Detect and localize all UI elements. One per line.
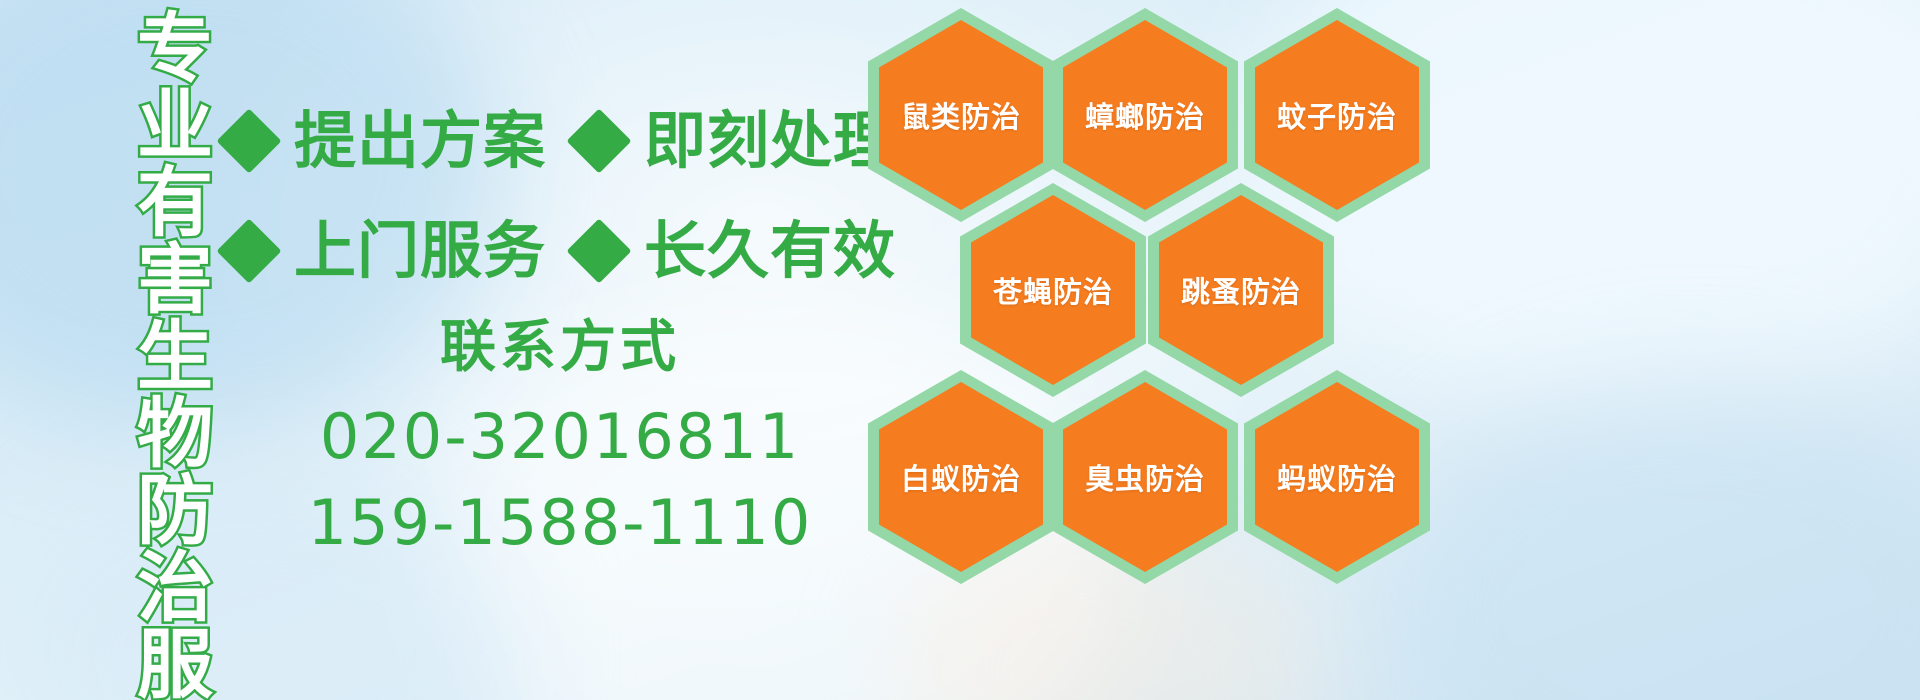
service-label: 蟑螂防治 (1085, 94, 1205, 136)
service-label: 鼠类防治 (901, 94, 1021, 136)
service-label: 白蚁防治 (901, 456, 1021, 498)
service-label: 苍蝇防治 (993, 269, 1113, 311)
service-hexagon-ant[interactable]: 蚂蚁防治 (1244, 370, 1430, 584)
service-hexagon-termite[interactable]: 白蚁防治 (868, 370, 1054, 584)
service-hexagon-bedbug[interactable]: 臭虫防治 (1052, 370, 1238, 584)
service-hexagon-flea[interactable]: 跳蚤防治 (1148, 183, 1334, 397)
service-label: 跳蚤防治 (1181, 269, 1301, 311)
service-hexagon-grid: 鼠类防治 蟑螂防治 蚊子防治 苍蝇防治 跳蚤防治 白蚁防治 (0, 0, 1920, 700)
service-label: 臭虫防治 (1085, 456, 1205, 498)
service-label: 蚂蚁防治 (1277, 456, 1397, 498)
service-label: 蚊子防治 (1277, 94, 1397, 136)
promo-banner: 专业有害生物防治服务 提出方案 即刻处理 上门服务 长久有效 联系方式 (0, 0, 1920, 700)
service-hexagon-fly[interactable]: 苍蝇防治 (960, 183, 1146, 397)
